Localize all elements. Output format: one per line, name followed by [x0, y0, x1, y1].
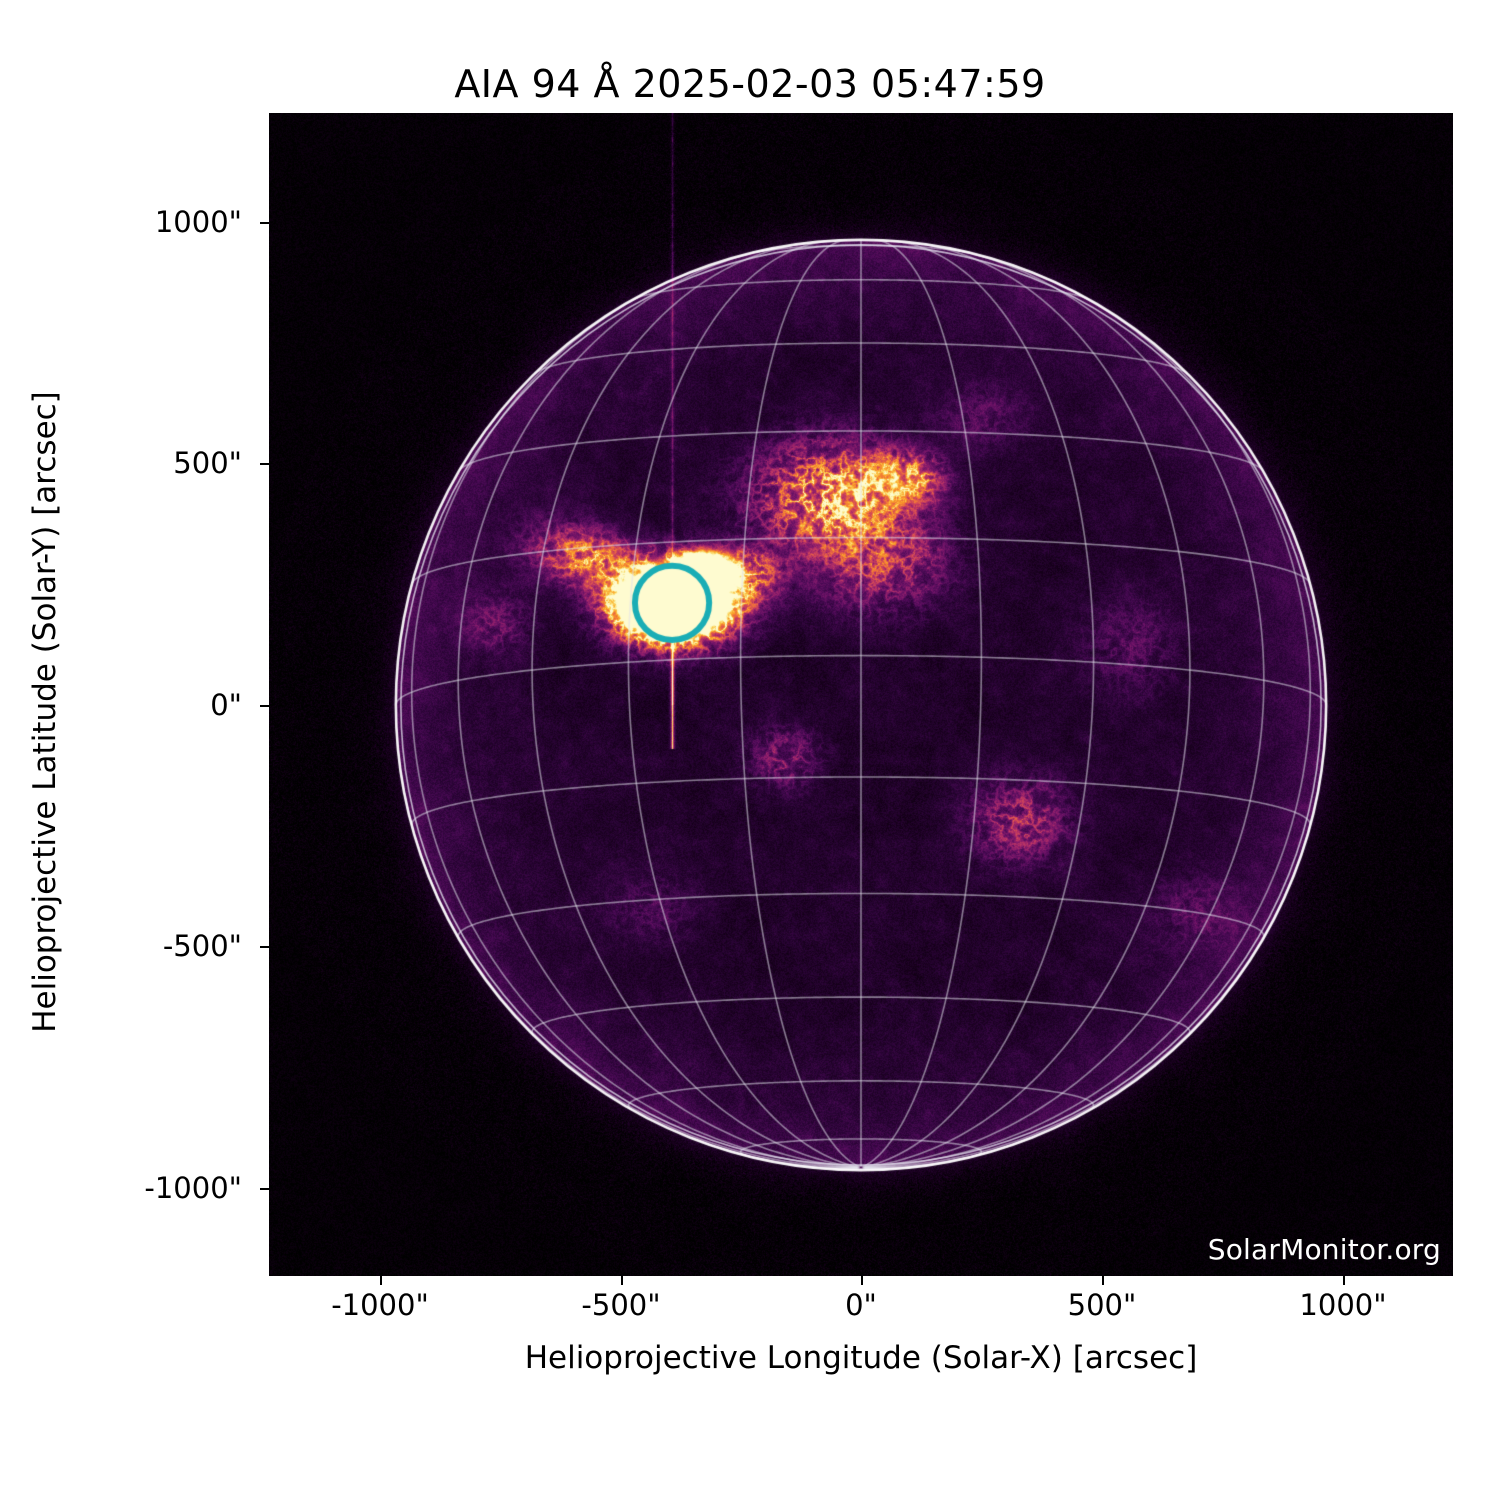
ytick-mark — [260, 705, 269, 707]
ytick-label-1000: 1000" — [42, 205, 242, 239]
aia-94-image-canvas — [269, 113, 1453, 1276]
xtick-label-0: 0" — [751, 1288, 971, 1322]
xtick-mark — [1102, 1276, 1104, 1285]
xtick-label-minus1000: -1000" — [270, 1288, 490, 1322]
solar-disk-image[interactable]: SolarMonitor.org — [269, 113, 1453, 1276]
xtick-mark — [621, 1276, 623, 1285]
xtick-label-minus500: -500" — [511, 1288, 731, 1322]
xtick-label-1000: 1000" — [1233, 1288, 1453, 1322]
ytick-mark — [260, 946, 269, 948]
xtick-label-500: 500" — [992, 1288, 1212, 1322]
xtick-mark — [1343, 1276, 1345, 1285]
xtick-mark — [380, 1276, 382, 1285]
ytick-mark — [260, 463, 269, 465]
page-title: AIA 94 Å 2025-02-03 05:47:59 — [0, 62, 1500, 106]
x-axis-label: Helioprojective Longitude (Solar-X) [arc… — [269, 1340, 1453, 1376]
ytick-label-minus500: -500" — [42, 929, 242, 963]
ytick-label-500: 500" — [42, 446, 242, 480]
solar-image-figure: AIA 94 Å 2025-02-03 05:47:59 1000" 500" … — [0, 0, 1500, 1500]
xtick-mark — [861, 1276, 863, 1285]
ytick-mark — [260, 222, 269, 224]
ytick-label-0: 0" — [42, 688, 242, 722]
ytick-label-minus1000: -1000" — [42, 1171, 242, 1205]
y-axis-label: Helioprojective Latitude (Solar-Y) [arcs… — [27, 212, 63, 1212]
ytick-mark — [260, 1188, 269, 1190]
watermark-label: SolarMonitor.org — [1208, 1233, 1441, 1266]
